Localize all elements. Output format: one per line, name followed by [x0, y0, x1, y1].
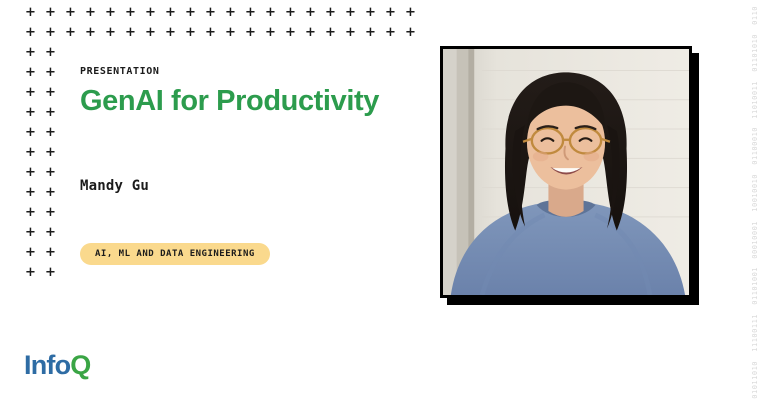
- plus-marker: +: [305, 27, 316, 38]
- plus-marker: +: [225, 27, 236, 38]
- plus-marker: +: [105, 27, 116, 38]
- plus-marker: +: [365, 7, 376, 18]
- plus-marker: +: [25, 267, 36, 278]
- plus-marker: +: [365, 27, 376, 38]
- plus-marker: +: [45, 187, 56, 198]
- binary-text-line: 01101010: [751, 34, 759, 72]
- plus-marker: +: [25, 227, 36, 238]
- plus-marker: +: [185, 7, 196, 18]
- plus-marker: +: [25, 187, 36, 198]
- plus-marker: +: [145, 27, 156, 38]
- speaker-name: Mandy Gu: [80, 178, 149, 194]
- plus-marker: +: [345, 27, 356, 38]
- plus-marker: +: [45, 227, 56, 238]
- plus-marker: +: [325, 7, 336, 18]
- plus-marker: +: [205, 27, 216, 38]
- plus-marker: +: [25, 247, 36, 258]
- binary-decoration-strip: 0110011010101101001101100010100100100001…: [745, 0, 765, 403]
- plus-marker: +: [45, 87, 56, 98]
- plus-marker: +: [45, 27, 56, 38]
- speaker-photo-container: [440, 46, 692, 298]
- logo-info-text: Info: [24, 350, 70, 380]
- binary-text-line: 10010010: [751, 174, 759, 212]
- plus-marker: +: [65, 27, 76, 38]
- plus-marker: +: [45, 67, 56, 78]
- plus-marker: +: [45, 47, 56, 58]
- track-badge: AI, ML AND DATA ENGINEERING: [80, 243, 270, 265]
- plus-marker: +: [25, 87, 36, 98]
- plus-marker: +: [25, 67, 36, 78]
- plus-marker: +: [45, 147, 56, 158]
- binary-text-line: 11100111: [751, 314, 759, 352]
- plus-marker: +: [25, 127, 36, 138]
- content-type-label: PRESENTATION: [80, 66, 420, 77]
- plus-marker: +: [25, 7, 36, 18]
- plus-marker: +: [125, 7, 136, 18]
- binary-text-line: 01011010: [751, 361, 759, 399]
- plus-marker: +: [385, 7, 396, 18]
- speaker-photo: [440, 46, 692, 298]
- plus-marker: +: [245, 7, 256, 18]
- binary-text-line: 00010001: [751, 221, 759, 259]
- plus-marker: +: [85, 7, 96, 18]
- plus-marker: +: [165, 7, 176, 18]
- plus-marker: +: [25, 107, 36, 118]
- binary-text-line: 0110: [751, 6, 759, 25]
- plus-marker: +: [85, 27, 96, 38]
- plus-marker: +: [45, 207, 56, 218]
- plus-marker: +: [165, 27, 176, 38]
- binary-text-line: 11010011: [751, 81, 759, 119]
- page-title: GenAI for Productivity: [80, 86, 420, 118]
- plus-marker: +: [405, 27, 416, 38]
- plus-marker: +: [45, 267, 56, 278]
- plus-marker: +: [25, 47, 36, 58]
- plus-marker: +: [25, 167, 36, 178]
- plus-marker: +: [345, 7, 356, 18]
- slide-text-content: PRESENTATION GenAI for Productivity Mand…: [80, 66, 420, 118]
- plus-marker: +: [205, 7, 216, 18]
- plus-marker: +: [285, 27, 296, 38]
- presentation-slide: ++++++++++++++++++++++++++++++++++++++++…: [0, 0, 768, 403]
- plus-marker: +: [265, 27, 276, 38]
- plus-marker: +: [125, 27, 136, 38]
- plus-marker: +: [225, 7, 236, 18]
- binary-text-line: 01100010: [751, 127, 759, 165]
- plus-marker: +: [45, 107, 56, 118]
- plus-marker: +: [145, 7, 156, 18]
- plus-marker: +: [325, 27, 336, 38]
- plus-marker: +: [385, 27, 396, 38]
- plus-marker: +: [265, 7, 276, 18]
- plus-marker: +: [45, 7, 56, 18]
- infoq-logo[interactable]: InfoQ: [24, 352, 90, 379]
- plus-marker: +: [45, 167, 56, 178]
- plus-marker: +: [245, 27, 256, 38]
- binary-text-line: 01101001: [751, 267, 759, 305]
- plus-marker: +: [405, 7, 416, 18]
- plus-marker: +: [25, 207, 36, 218]
- plus-marker: +: [25, 27, 36, 38]
- plus-marker: +: [45, 127, 56, 138]
- plus-marker: +: [305, 7, 316, 18]
- plus-marker: +: [25, 147, 36, 158]
- plus-marker: +: [285, 7, 296, 18]
- plus-marker: +: [65, 7, 76, 18]
- plus-marker: +: [185, 27, 196, 38]
- logo-q-text: Q: [70, 350, 90, 380]
- plus-marker: +: [45, 247, 56, 258]
- plus-marker: +: [105, 7, 116, 18]
